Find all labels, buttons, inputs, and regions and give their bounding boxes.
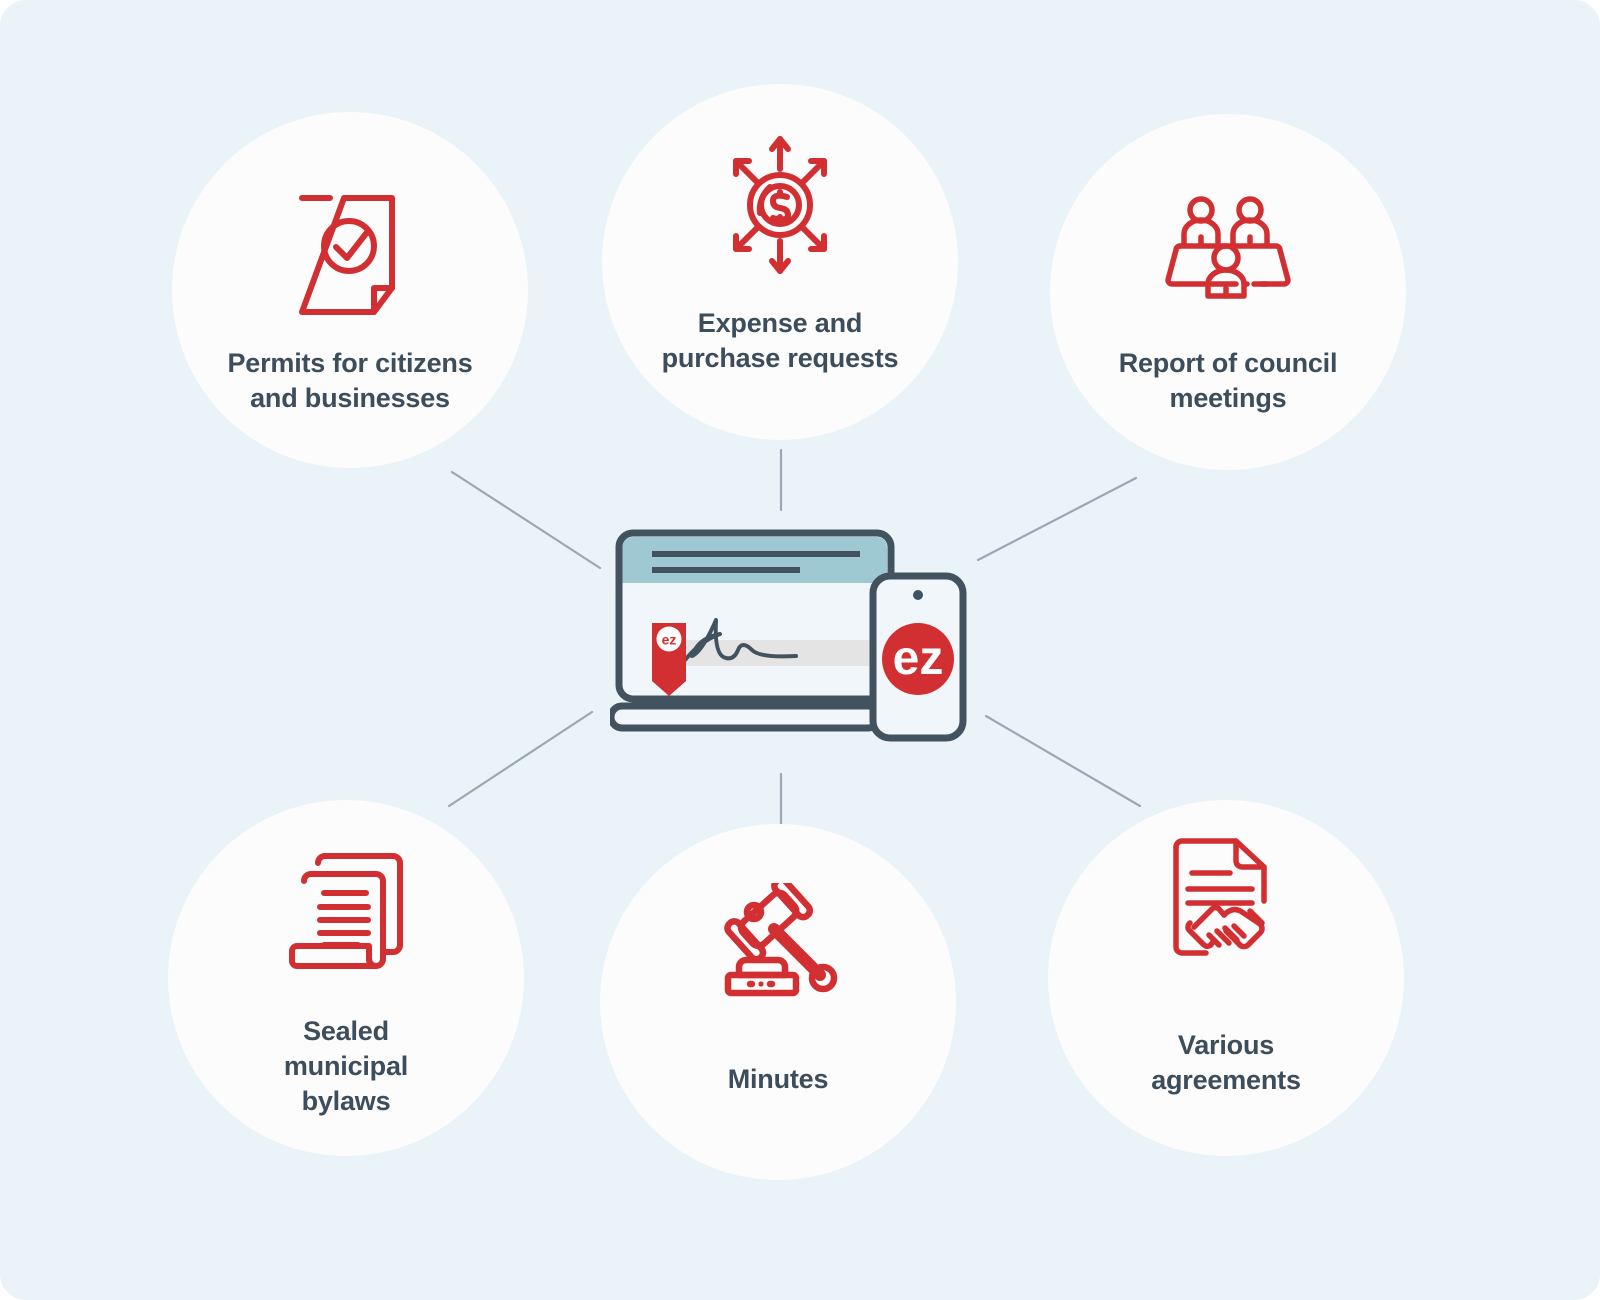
node-agreements-label: Various agreements [1129,966,1323,1098]
document-check-icon [172,112,528,320]
laptop-base [611,706,879,728]
phone-camera-dot [913,590,923,600]
node-minutes[interactable]: Minutes [600,824,956,1180]
gavel-icon [600,824,956,1010]
infographic-canvas: Permits for citizens and businesses [0,0,1600,1300]
laptop-device: ez [611,533,891,728]
node-bylaws-label: Sealed municipal bylaws [262,976,430,1119]
node-permits[interactable]: Permits for citizens and businesses [172,112,528,468]
connector-to-permits [452,472,600,568]
document-handshake-icon [1048,800,1404,966]
connector-to-council [978,478,1136,560]
ez-ribbon-seal: ez [652,623,686,696]
document-stack-scroll-icon [168,800,524,976]
connector-to-bylaws [449,712,592,806]
node-council[interactable]: Report of council meetings [1050,114,1406,470]
council-table-people-icon [1050,114,1406,316]
phone-device: ez [873,576,963,738]
center-device-cluster: ez ez [610,528,990,758]
phone-logo-text: ez [893,632,944,685]
node-expense[interactable]: Expense and purchase requests [602,84,958,440]
node-minutes-label: Minutes [706,1010,851,1097]
screen-header-bar [623,537,888,583]
connector-to-agreements [986,716,1140,806]
node-council-label: Report of council meetings [1097,316,1360,416]
ribbon-logo-text: ez [662,632,677,648]
node-permits-label: Permits for citizens and businesses [205,320,494,416]
node-expense-label: Expense and purchase requests [640,270,921,376]
node-bylaws[interactable]: Sealed municipal bylaws [168,800,524,1156]
dollar-coin-arrows-icon [602,84,958,270]
node-agreements[interactable]: Various agreements [1048,800,1404,1156]
